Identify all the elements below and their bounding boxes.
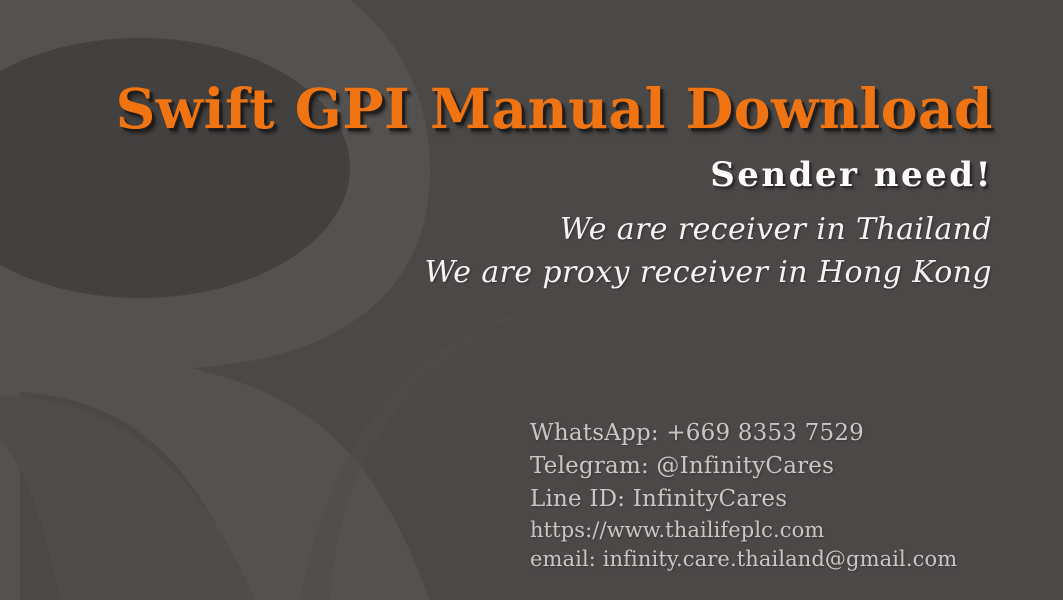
watermark-shade (300, 300, 560, 600)
script-line-proxy-hongkong: We are proxy receiver in Hong Kong (0, 251, 992, 294)
script-statements: We are receiver in Thailand We are proxy… (0, 208, 992, 294)
contact-telegram[interactable]: Telegram: @InfinityCares (530, 450, 957, 483)
contact-whatsapp[interactable]: WhatsApp: +669 8353 7529 (530, 417, 957, 450)
subtitle: Sender need! (0, 155, 993, 195)
watermark-r-leg (0, 395, 255, 600)
contact-line-id[interactable]: Line ID: InfinityCares (530, 483, 957, 516)
script-line-receiver-thailand: We are receiver in Thailand (0, 208, 992, 251)
contact-block: WhatsApp: +669 8353 7529 Telegram: @Infi… (530, 417, 957, 574)
promo-banner: Swift GPI Manual Download Sender need! W… (0, 0, 1063, 600)
contact-email[interactable]: email: infinity.care.thailand@gmail.com (530, 545, 957, 574)
page-title: Swift GPI Manual Download (0, 78, 993, 140)
contact-website[interactable]: https://www.thailifeplc.com (530, 516, 957, 545)
